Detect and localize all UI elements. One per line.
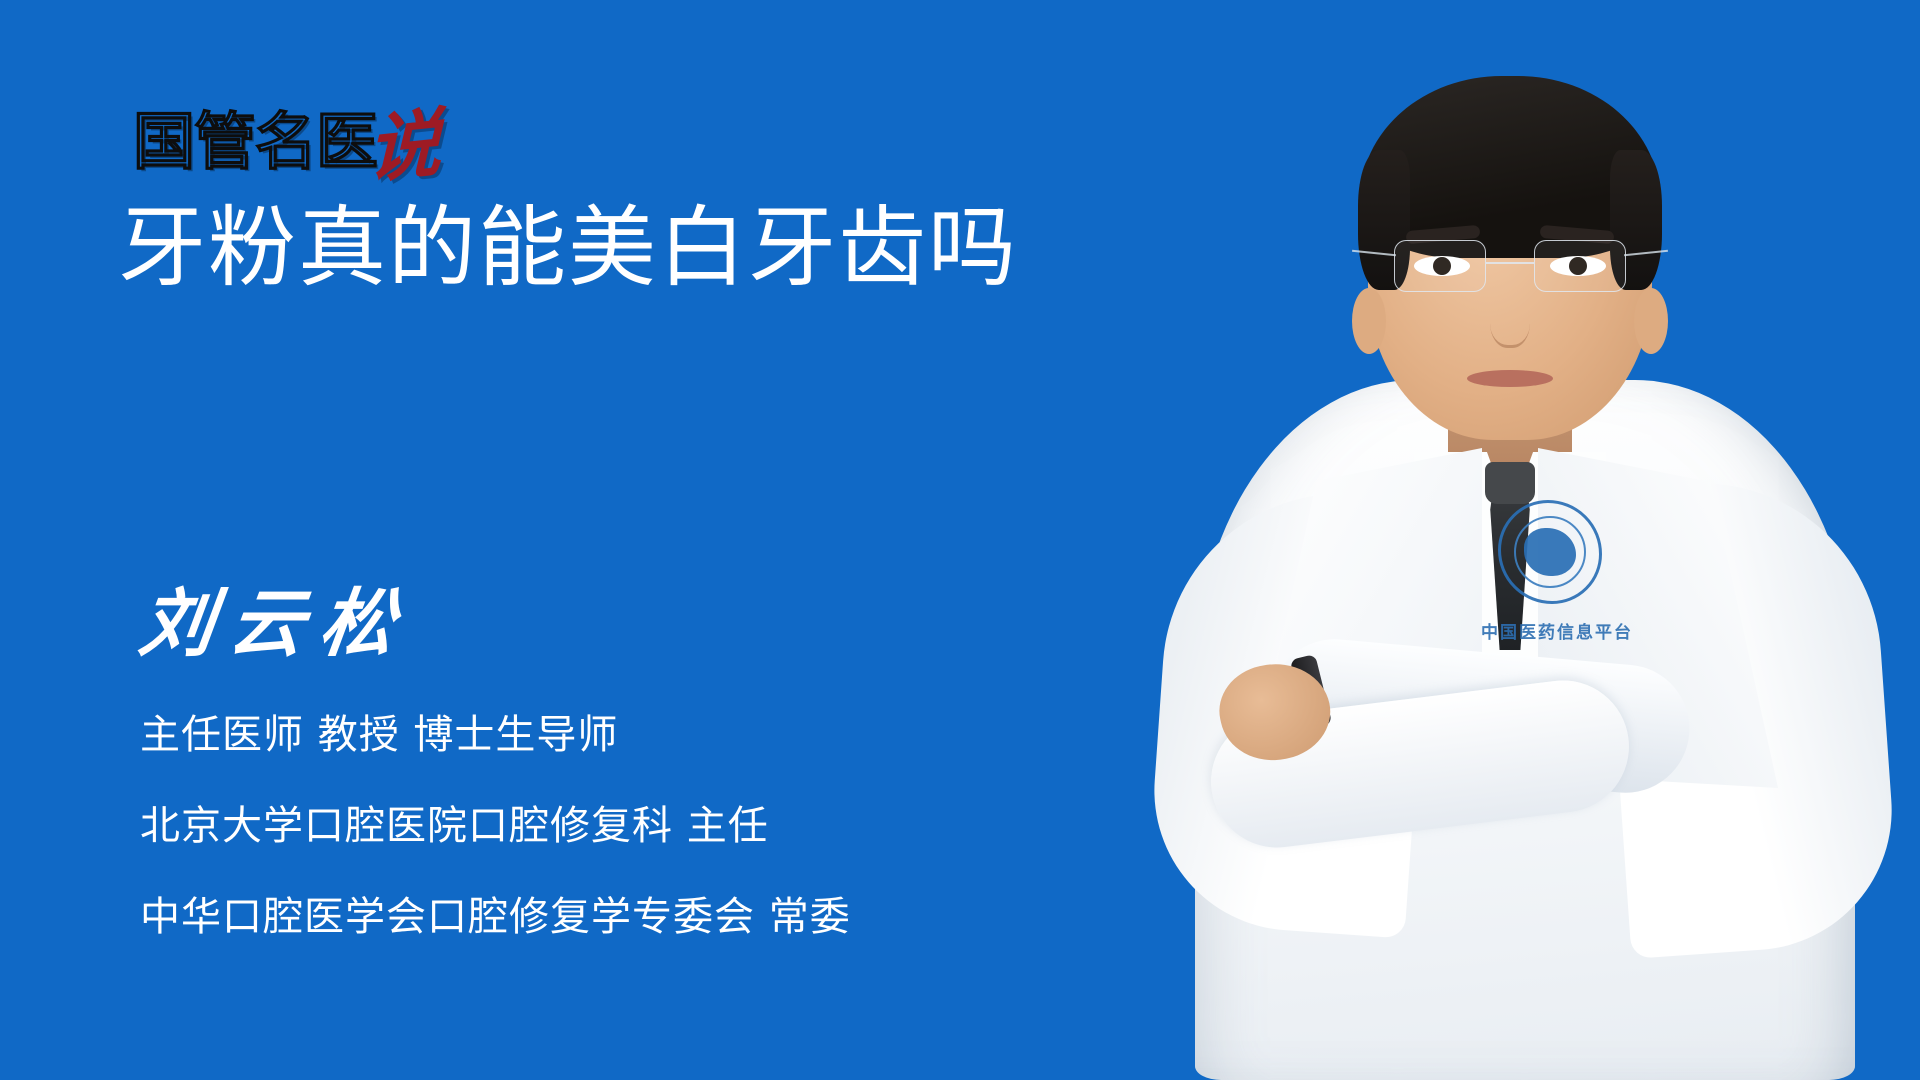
mouth [1467,370,1553,387]
eyeglass-temple-left [1352,250,1396,257]
eyeglass-lens-right [1534,240,1626,292]
speaker-name: 刘云松 [135,582,415,666]
organization-emblem-icon [1498,500,1602,604]
episode-title: 牙粉真的能美白牙齿吗 [118,196,1018,300]
organization-name-text: 中国医药信息平台 [1452,618,1662,643]
text-column: 国管名医 说 牙粉真的能美白牙齿吗 刘云松 主任医师 教授 博士生导师 北京大学… [0,0,1150,1080]
doctor-portrait: 中国医药信息平台 [1100,0,1920,1080]
eyeglass-bridge [1486,262,1534,264]
nose [1490,292,1530,348]
eyeglass-lens-left [1394,240,1486,292]
eyeglass-temple-right [1624,250,1668,257]
title-card-canvas: 国管名医 说 牙粉真的能美白牙齿吗 刘云松 主任医师 教授 博士生导师 北京大学… [0,0,1920,1080]
program-logo-accent-text: 说 [367,110,441,184]
program-logo: 国管名医 说 [133,92,441,174]
credential-line-1: 主任医师 教授 博士生导师 [140,712,851,758]
speaker-credentials: 主任医师 教授 博士生导师 北京大学口腔医院口腔修复科 主任 中华口腔医学会口腔… [140,712,851,940]
credential-line-2: 北京大学口腔医院口腔修复科 主任 [140,803,851,849]
credential-line-3: 中华口腔医学会口腔修复学专委会 常委 [140,894,851,940]
program-logo-main-text: 国管名医 [133,110,377,174]
